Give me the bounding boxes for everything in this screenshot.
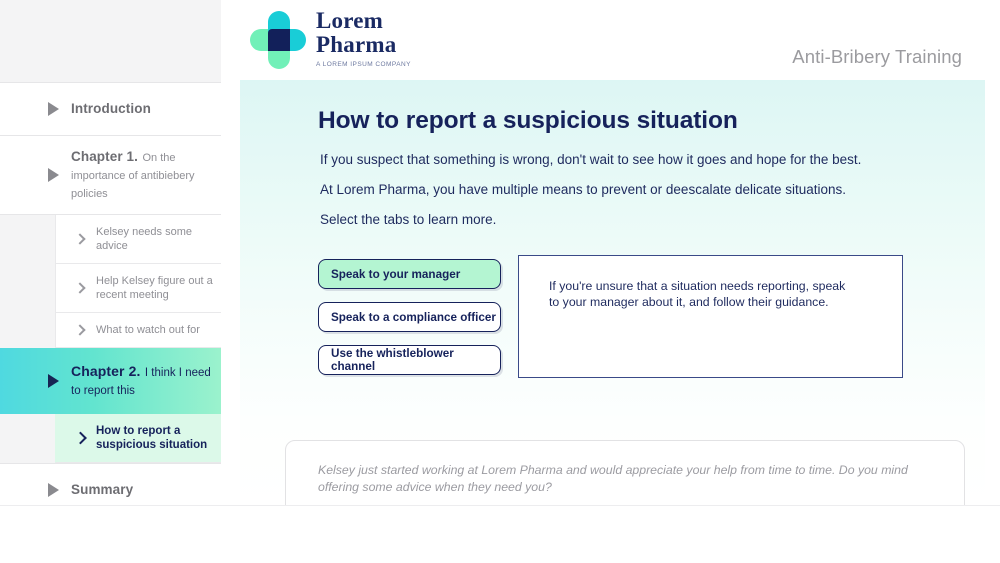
chevron-right-icon: [74, 282, 85, 293]
tab-content-text: If you're unsure that a situation needs …: [549, 278, 854, 310]
sidebar-subitem-how-to-report[interactable]: How to report a suspicious situation: [55, 414, 221, 463]
outline-labels: Chapter 1. On the importance of antibieb…: [71, 148, 211, 202]
sidebar-item-introduction[interactable]: Introduction: [0, 82, 221, 136]
outline-labels: Chapter 2. I think I need to report this: [71, 363, 211, 399]
slide-paragraph: If you suspect that something is wrong, …: [320, 151, 861, 169]
tab-content-panel: If you're unsure that a situation needs …: [518, 255, 903, 378]
brand-tagline: A LOREM IPSUM COMPANY: [316, 61, 411, 68]
outline-title: Introduction: [71, 101, 151, 116]
outline-title: Summary: [71, 482, 133, 497]
medical-cross-icon: [250, 11, 306, 69]
tab-use-the-whistleblower-channel[interactable]: Use the whistleblower channel: [318, 345, 501, 375]
course-outline-sidebar: Introduction Chapter 1. On the importanc…: [0, 0, 221, 505]
transcript-text: Kelsey just started working at Lorem Pha…: [318, 462, 933, 496]
outline-title: Chapter 2.: [71, 363, 140, 379]
outline-subitem-label: Help Kelsey figure out a recent meeting: [96, 274, 213, 302]
sidebar-subitem-kelsey-advice[interactable]: Kelsey needs some advice: [55, 215, 221, 264]
outline-title: Chapter 1.: [71, 149, 138, 164]
transcript-box: Kelsey just started working at Lorem Pha…: [285, 440, 965, 505]
chevron-right-icon: [74, 233, 85, 244]
outline-labels: Summary: [71, 481, 133, 499]
sidebar-item-chapter-2[interactable]: Chapter 2. I think I need to report this: [0, 348, 221, 414]
tab-speak-to-a-compliance-officer[interactable]: Speak to a compliance officer: [318, 302, 501, 332]
slide-paragraph: At Lorem Pharma, you have multiple means…: [320, 181, 846, 199]
brand-logo: Lorem Pharma A LOREM IPSUM COMPANY: [250, 9, 411, 69]
triangle-right-icon: [48, 374, 59, 388]
outline-subitem-label: Kelsey needs some advice: [96, 225, 213, 253]
brand-line-1: Lorem: [316, 9, 411, 33]
tab-speak-to-your-manager[interactable]: Speak to your manager: [318, 259, 501, 289]
sidebar-item-chapter-1[interactable]: Chapter 1. On the importance of antibieb…: [0, 136, 221, 215]
sidebar-subitem-recent-meeting[interactable]: Help Kelsey figure out a recent meeting: [55, 264, 221, 313]
triangle-right-icon: [48, 483, 59, 497]
outline-subitem-label: What to watch out for: [96, 323, 200, 337]
slide-canvas: How to report a suspicious situation If …: [240, 80, 985, 505]
slide-paragraph: Select the tabs to learn more.: [320, 211, 496, 229]
sidebar-subitem-watch-out-for[interactable]: What to watch out for: [55, 313, 221, 348]
outline-subitem-label: How to report a suspicious situation: [96, 424, 213, 452]
chevron-right-icon: [74, 432, 87, 445]
triangle-right-icon: [48, 102, 59, 116]
outline-list: Introduction Chapter 1. On the importanc…: [0, 82, 221, 505]
slide-title: How to report a suspicious situation: [318, 107, 738, 135]
tab-list: Speak to your manager Speak to a complia…: [318, 259, 503, 388]
outline-labels: Introduction: [71, 100, 151, 118]
course-title: Anti-Bribery Training: [792, 46, 962, 68]
page-header: Lorem Pharma A LOREM IPSUM COMPANY Anti-…: [221, 0, 1000, 80]
sidebar-item-summary[interactable]: Summary: [0, 463, 221, 505]
course-player-window: Introduction Chapter 1. On the importanc…: [0, 0, 1000, 563]
chevron-right-icon: [74, 324, 85, 335]
player-controls-bar: T 1 min: [0, 505, 1000, 563]
triangle-right-icon: [48, 168, 59, 182]
brand-wordmark: Lorem Pharma A LOREM IPSUM COMPANY: [316, 9, 411, 68]
brand-line-2: Pharma: [316, 33, 411, 57]
